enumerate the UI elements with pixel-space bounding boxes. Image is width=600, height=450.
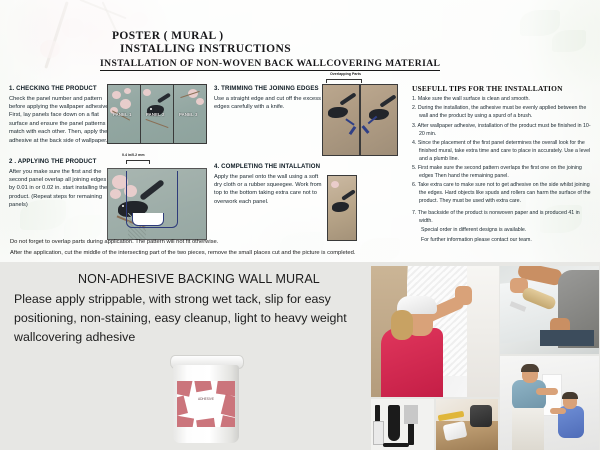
tip-item: 7. The backside of the product is nonwov… bbox=[412, 210, 594, 226]
step-1-heading: 1. CHECKING THE PRODUCT bbox=[9, 85, 112, 92]
blossom-icon bbox=[112, 91, 121, 99]
diagram-panel-3: PANEL 3 bbox=[173, 84, 207, 144]
step-3-block: 3. TRIMMING THE JOINING EDGES Use a stra… bbox=[214, 85, 322, 111]
trim-photo-right bbox=[360, 84, 398, 156]
label-pattern bbox=[220, 415, 235, 427]
knife-tool bbox=[383, 443, 409, 447]
blossom-icon bbox=[124, 88, 131, 94]
completing-installation-photo bbox=[327, 175, 357, 241]
blossom-icon bbox=[120, 99, 131, 109]
adult-trousers bbox=[512, 408, 544, 450]
label-pattern bbox=[177, 381, 192, 397]
step-1-body: Check the panel number and pattern befor… bbox=[9, 95, 112, 146]
tip-item: 2. During the installation, the adhesive… bbox=[412, 105, 594, 121]
diagram-panel-3-label: PANEL 3 bbox=[179, 112, 198, 117]
photo-man-and-child-smoothing-wall bbox=[500, 356, 599, 450]
photo-paste-table-with-roll bbox=[436, 399, 498, 450]
bird-illustration bbox=[328, 107, 348, 118]
tips-block: USEFULL TIPS FOR THE INSTALLATION 1. Mak… bbox=[412, 84, 594, 246]
bird-tail bbox=[341, 189, 356, 201]
tip-item: 6. Take extra care to make sure not to g… bbox=[412, 182, 594, 206]
paste-bucket bbox=[470, 405, 492, 427]
scraper-handle bbox=[408, 423, 414, 445]
tip-item: 3. After wallpaper adhesive, installatio… bbox=[412, 123, 594, 139]
page-subtitle: INSTALLATION OF NON-WOVEN BACK WALLCOVER… bbox=[100, 58, 440, 71]
twig-decor bbox=[146, 119, 169, 128]
diagram-panel-1-label: PANEL 1 bbox=[113, 112, 132, 117]
bird-eye bbox=[122, 205, 124, 207]
cut-path-outline bbox=[132, 213, 164, 226]
adult-arm bbox=[536, 388, 558, 395]
blossom-icon bbox=[196, 98, 204, 105]
tip-item: 4. Since the placement of the first pane… bbox=[412, 140, 594, 164]
footer-notes: Do not forget to overlap parts during ap… bbox=[10, 237, 570, 259]
step-2-body: After you make sure the first and the se… bbox=[9, 168, 112, 210]
bird-tail bbox=[339, 92, 356, 105]
tips-closing-line: Special order in different designs is av… bbox=[412, 227, 594, 235]
diagram-panel-2-label: PANEL 2 bbox=[146, 112, 165, 117]
blossom-icon bbox=[331, 181, 339, 188]
bird-eye bbox=[150, 108, 152, 110]
photo-installation-tools bbox=[371, 399, 434, 450]
diagram-overlap-detail bbox=[107, 168, 207, 240]
step-1-block: 1. CHECKING THE PRODUCT Check the panel … bbox=[9, 85, 112, 145]
yellow-tool bbox=[438, 411, 465, 421]
brush-head bbox=[373, 421, 384, 445]
knife-handle bbox=[361, 125, 369, 134]
bucket-label bbox=[177, 381, 235, 427]
tip-item: 5. First make sure the second pattern ov… bbox=[412, 165, 594, 181]
bird-tail bbox=[157, 93, 171, 104]
photo-roller-applying-paste bbox=[500, 266, 599, 354]
knife-handle bbox=[349, 126, 357, 135]
belt bbox=[540, 330, 594, 346]
instruction-sheet-page: POSTER ( MURAL ) INSTALLING INSTRUCTIONS… bbox=[0, 0, 600, 450]
product-title: NON-ADHESIVE BACKING WALL MURAL bbox=[78, 272, 320, 286]
step-3-body: Use a straight edge and cut off the exce… bbox=[214, 95, 322, 112]
child-arm bbox=[550, 408, 566, 414]
blossom-icon bbox=[143, 89, 151, 96]
bucket-label-text: ADHESIVE bbox=[184, 397, 228, 401]
page-title-line1: POSTER ( MURAL ) bbox=[112, 30, 224, 42]
page-title-line2: INSTALLING INSTRUCTIONS bbox=[120, 43, 291, 55]
overlap-parts-label: Overlapping Parts bbox=[330, 72, 361, 76]
step-4-heading: 4. COMPLETING THE INTALLATION bbox=[214, 163, 324, 170]
bird-illustration bbox=[332, 202, 349, 212]
child-hair bbox=[562, 392, 578, 399]
product-description: Please apply strippable, with strong wet… bbox=[14, 290, 366, 348]
tips-heading: USEFULL TIPS FOR THE INSTALLATION bbox=[412, 84, 594, 93]
tip-item: 1. Make sure the wall surface is clean a… bbox=[412, 96, 594, 104]
adhesive-bucket-image: ADHESIVE bbox=[170, 355, 242, 443]
hand bbox=[455, 286, 472, 305]
measure-label: 0.4 in/0.2 mm bbox=[122, 153, 145, 157]
hair bbox=[391, 310, 413, 340]
smoother-blade bbox=[388, 405, 400, 441]
scraper-blade bbox=[404, 405, 418, 424]
measure-bracket bbox=[126, 160, 150, 164]
step-2-heading: 2 . APPLYING THE PRODUCT bbox=[9, 158, 112, 165]
step-4-block: 4. COMPLETING THE INTALLATION Apply the … bbox=[214, 163, 324, 206]
step-3-heading: 3. TRIMMING THE JOINING EDGES bbox=[214, 85, 322, 92]
adult-hair bbox=[521, 364, 539, 372]
blossom-icon bbox=[110, 189, 121, 199]
wall-background bbox=[467, 266, 499, 397]
photo-woman-hanging-wallpaper bbox=[371, 266, 499, 397]
diagram-panel-2: PANEL 2 bbox=[140, 84, 174, 144]
adult-shirt bbox=[512, 380, 546, 410]
footer-note-line: After the application, cut the middle of… bbox=[10, 248, 570, 259]
label-pattern bbox=[177, 416, 194, 427]
label-pattern bbox=[194, 381, 212, 392]
diagram-panel-1: PANEL 1 bbox=[107, 84, 141, 144]
shirt bbox=[381, 328, 443, 397]
label-pattern bbox=[196, 418, 216, 427]
trim-photo-left bbox=[322, 84, 360, 156]
overlap-bracket bbox=[326, 79, 362, 83]
step-4-body: Apply the panel onto the wall using a so… bbox=[214, 173, 324, 207]
step-2-block: 2 . APPLYING THE PRODUCT After you make … bbox=[9, 158, 112, 210]
bird-tail bbox=[379, 94, 396, 107]
footer-note-line: Do not forget to overlap parts during ap… bbox=[10, 237, 570, 248]
